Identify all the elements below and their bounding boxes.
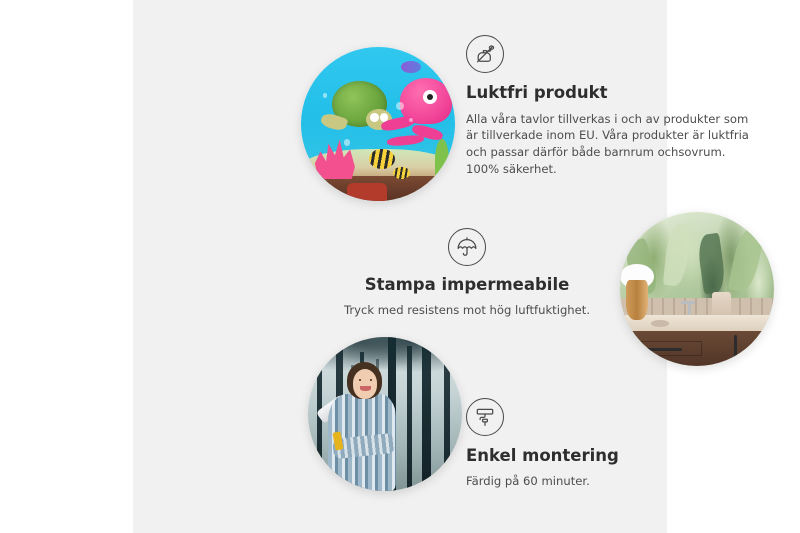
paint-roller-icon	[466, 398, 504, 436]
feature-description: Alla våra tavlor tillverkas i och av pro…	[466, 111, 756, 178]
umbrella-icon	[448, 228, 486, 266]
no-odour-icon	[466, 35, 504, 73]
face	[353, 369, 378, 398]
feature-title: Luktfri produkt	[466, 83, 756, 104]
smile	[360, 386, 371, 391]
drawer-handle	[648, 348, 682, 351]
feature-easy-mounting: Enkel montering Färdig på 60 minuter.	[466, 398, 716, 489]
feature-description: Färdig på 60 minuter.	[466, 473, 716, 490]
gold-vase	[626, 280, 648, 320]
cabinet-handle	[734, 335, 737, 360]
feature-waterproof: Stampa impermeabile Tryck med resistens …	[333, 228, 601, 318]
underwater-cartoon-mural-image	[301, 47, 455, 201]
bubble	[344, 139, 350, 145]
decorator-forest-wallpaper-image	[308, 337, 462, 491]
feature-odourless: Luktfri produkt Alla våra tavlor tillver…	[466, 35, 756, 178]
feature-title: Stampa impermeabile	[333, 275, 601, 296]
bathroom-botanical-wallpaper-image	[620, 212, 774, 366]
infographic-canvas: Luktfri produkt Alla våra tavlor tillver…	[0, 0, 800, 533]
feature-title: Enkel montering	[466, 446, 716, 467]
bubble	[323, 93, 328, 98]
content-panel: Luktfri produkt Alla våra tavlor tillver…	[133, 0, 667, 533]
seaweed	[435, 139, 449, 182]
red-rock	[347, 183, 387, 201]
feature-description: Tryck med resistens mot hög luftfuktighe…	[333, 302, 601, 319]
octopus-eye	[423, 90, 437, 104]
forest-canopy	[308, 337, 462, 377]
butterflyfish	[369, 149, 395, 169]
